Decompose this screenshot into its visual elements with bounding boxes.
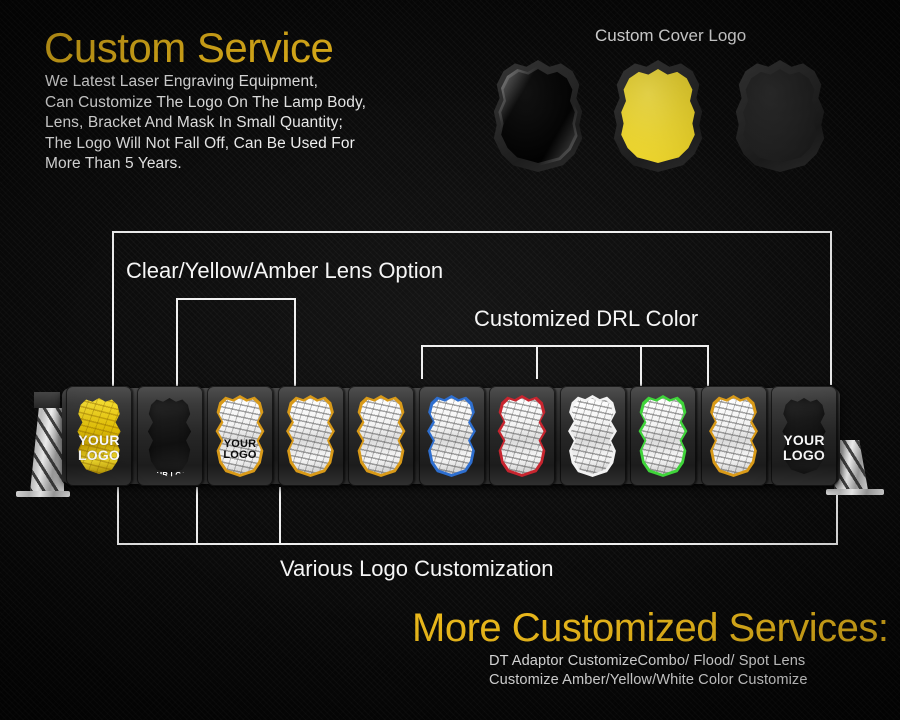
custom-cover-logo-label: Custom Cover Logo	[595, 26, 746, 46]
logo-custom-bracket-bottom	[117, 543, 838, 545]
pod-lens: YOUR LOGO	[214, 395, 266, 477]
light-pod-7[interactable]	[489, 386, 555, 486]
pod-lens	[355, 395, 407, 477]
light-pod-8[interactable]	[560, 386, 626, 486]
light-pod-2[interactable]: YOUR LOGO	[137, 386, 203, 486]
lens-option-bracket-right-tick	[830, 231, 832, 385]
lens-option-bracket-top	[112, 231, 832, 233]
inner-bracket-top	[176, 298, 296, 300]
callout-lens-option-label: Clear/Yellow/Amber Lens Option	[126, 258, 443, 284]
pod-lens	[285, 395, 337, 477]
cover-gloss-highlight	[495, 66, 581, 166]
pod-lens: YOUR LOGO	[144, 395, 196, 477]
cover-logo-black[interactable]	[490, 60, 586, 172]
logo-custom-tick-3	[279, 487, 281, 545]
more-services-description: DT Adaptor CustomizeCombo/ Flood/ Spot L…	[489, 652, 808, 690]
drl-bracket-tick-2	[536, 345, 538, 379]
light-pod-9[interactable]	[630, 386, 696, 486]
cover-face	[618, 69, 698, 163]
pod-lens	[567, 395, 619, 477]
drl-bracket-tick-3	[640, 345, 642, 387]
drl-bracket-tick-1	[421, 345, 423, 379]
lens-optic	[499, 398, 545, 474]
lens-optic	[570, 398, 616, 474]
lens-optic	[640, 398, 686, 474]
lens-optic	[429, 398, 475, 474]
lens-optic	[711, 398, 757, 474]
callout-logo-customization-label: Various Logo Customization	[280, 556, 554, 582]
light-pod-11[interactable]: YOURLOGO	[771, 386, 837, 486]
pod-lens: YOURLOGO	[778, 395, 830, 477]
lens-optic	[781, 398, 827, 474]
callout-drl-color-label: Customized DRL Color	[474, 306, 698, 332]
lens-optic	[217, 398, 263, 474]
more-services-title: More Customized Services:	[412, 606, 889, 651]
logo-custom-tick-2	[196, 487, 198, 545]
pod-lens	[708, 395, 760, 477]
inner-bracket-left-tick	[176, 298, 178, 386]
cover-face	[740, 69, 820, 163]
pod-lens	[637, 395, 689, 477]
pod-lens: YOURLOGO	[73, 395, 125, 477]
page-title: Custom Service	[44, 24, 333, 72]
light-pod-4[interactable]	[278, 386, 344, 486]
mount-slot-pattern	[30, 408, 64, 492]
cover-logo-yellow[interactable]	[610, 60, 706, 172]
lens-optic	[76, 398, 122, 474]
drl-bracket-top	[421, 345, 709, 347]
lens-optic	[288, 398, 334, 474]
light-pod-6[interactable]	[419, 386, 485, 486]
light-pod-10[interactable]	[701, 386, 767, 486]
drl-bracket-tick-4	[707, 345, 709, 387]
led-light-bar[interactable]: YOURLOGOYOUR LOGOYOUR LOGOYOURLOGO	[62, 386, 840, 486]
pod-lens	[426, 395, 478, 477]
lens-optic	[147, 398, 193, 474]
pod-lens	[496, 395, 548, 477]
mount-top-clamp	[34, 392, 60, 408]
light-pod-3[interactable]: YOUR LOGO	[207, 386, 273, 486]
mount-leg	[30, 408, 64, 492]
light-pod-5[interactable]	[348, 386, 414, 486]
lens-optic	[358, 398, 404, 474]
custom-service-description: We Latest Laser Engraving Equipment, Can…	[45, 72, 366, 175]
light-pod-1[interactable]: YOURLOGO	[66, 386, 132, 486]
mount-foot	[826, 489, 884, 495]
cover-logo-grey[interactable]	[732, 60, 828, 172]
logo-custom-tick-1	[117, 487, 119, 545]
inner-bracket-right-tick	[294, 298, 296, 386]
mount-foot	[16, 491, 70, 497]
